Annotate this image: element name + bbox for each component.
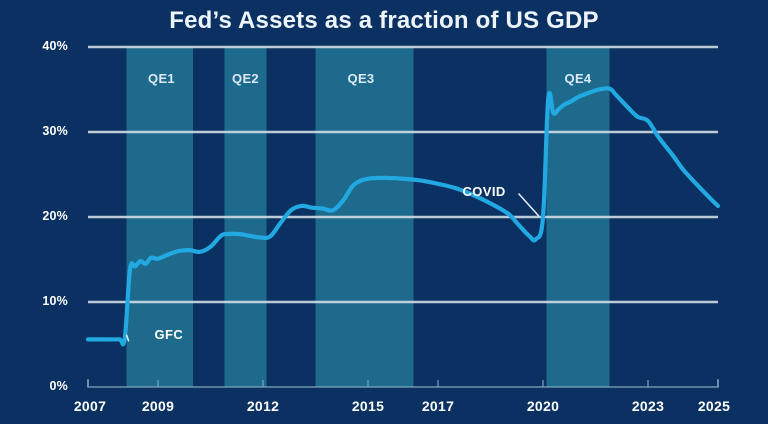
x-tick-label-2015: 2015 [352,398,384,414]
y-tick-label-40: 40% [16,39,68,53]
band-label-qe2: QE2 [232,71,259,86]
annotation-label-gfc: GFC [155,327,184,342]
band-label-qe4: QE4 [565,71,592,86]
y-tick-label-10: 10% [16,294,68,308]
x-tick-label-2012: 2012 [247,398,279,414]
x-tick-label-2009: 2009 [142,398,174,414]
y-tick-label-30: 30% [16,124,68,138]
band-label-qe3: QE3 [348,71,375,86]
x-tick-label-2020: 2020 [527,398,559,414]
y-axis: 0%10%20%30%40% [10,0,68,424]
x-tick-label-2007: 2007 [74,398,106,414]
y-tick-label-20: 20% [16,209,68,223]
chart-plot-area [0,0,768,424]
y-tick-label-0: 0% [16,379,68,393]
x-tick-label-2023: 2023 [632,398,664,414]
band-label-qe1: QE1 [148,71,175,86]
x-tick-label-2025: 2025 [698,398,730,414]
annotation-leader-covid [519,194,539,217]
chart-container: Fed’s Assets as a fraction of US GDP 0%1… [0,0,768,424]
x-tick-label-2017: 2017 [422,398,454,414]
annotation-label-covid: COVID [463,184,506,199]
